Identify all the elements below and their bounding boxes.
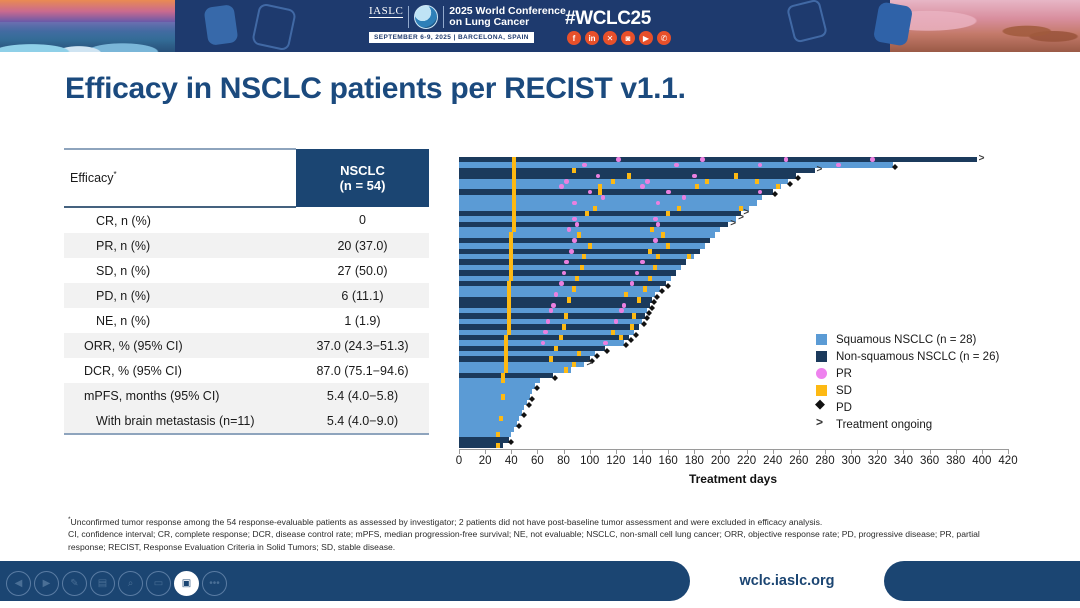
marker-pr bbox=[616, 157, 621, 162]
marker-pr bbox=[674, 163, 679, 168]
footnote-text-1: Unconfirmed tumor response among the 54 … bbox=[71, 517, 823, 527]
x-tick-label: 240 bbox=[763, 455, 782, 467]
x-tick bbox=[773, 449, 774, 454]
table-row: SD, n (%)27 (50.0) bbox=[64, 258, 429, 283]
marker-pr bbox=[700, 157, 705, 162]
x-tick-label: 120 bbox=[606, 455, 625, 467]
zoom-button[interactable]: ⌕ bbox=[118, 571, 143, 596]
presentation-bottom-bar: wclc.iaslc.org ◀▶✎▤⌕▭▣••• bbox=[0, 561, 1080, 608]
x-tick-label: 420 bbox=[998, 455, 1017, 467]
linkedin-icon[interactable]: in bbox=[585, 31, 599, 45]
marker-pd bbox=[552, 372, 558, 378]
globe-icon bbox=[414, 5, 438, 29]
x-tick bbox=[825, 449, 826, 454]
marker-pr bbox=[653, 217, 658, 222]
table-row: PR, n (%)20 (37.0) bbox=[64, 233, 429, 258]
marker-pr bbox=[645, 179, 650, 184]
x-tick bbox=[930, 449, 931, 454]
hexagon-decor-right-icon bbox=[873, 1, 913, 46]
logo-divider-2 bbox=[443, 6, 444, 28]
table-cell-value: 27 (50.0) bbox=[296, 258, 429, 283]
marker-pr bbox=[554, 292, 559, 297]
x-tick-label: 180 bbox=[685, 455, 704, 467]
banner-photo-right bbox=[890, 0, 1080, 52]
table-header-efficacy: Efficacy* bbox=[64, 149, 296, 207]
marker-pd bbox=[772, 188, 778, 194]
slide-title: Efficacy in NSCLC patients per RECIST v1… bbox=[65, 72, 686, 106]
x-tick bbox=[799, 449, 800, 454]
x-tick bbox=[668, 449, 669, 454]
x-tick bbox=[459, 449, 460, 454]
marker-pr bbox=[870, 157, 875, 162]
legend-item-pd: PD bbox=[816, 399, 999, 416]
x-tick-label: 340 bbox=[894, 455, 913, 467]
conference-name: 2025 World Conference on Lung Cancer bbox=[449, 6, 566, 29]
x-tick-label: 400 bbox=[972, 455, 991, 467]
table-cell-value: 6 (11.1) bbox=[296, 283, 429, 308]
x-tick-label: 0 bbox=[456, 455, 462, 467]
marker-pr bbox=[559, 281, 564, 286]
marker-pr bbox=[640, 184, 645, 189]
legend-swatch-pr-icon bbox=[816, 368, 827, 379]
marker-pd bbox=[604, 345, 610, 351]
table-cell-value: 5.4 (4.0−5.8) bbox=[296, 383, 429, 408]
x-tick-label: 140 bbox=[632, 455, 651, 467]
presenter-toolbar: ◀▶✎▤⌕▭▣••• bbox=[6, 571, 227, 596]
table-cell-value: 87.0 (75.1−94.6) bbox=[296, 358, 429, 383]
table-row: PD, n (%)6 (11.1) bbox=[64, 283, 429, 308]
x-tick bbox=[511, 449, 512, 454]
footnote-line-1: *Unconfirmed tumor response among the 54… bbox=[68, 514, 1016, 528]
marker-pd bbox=[508, 436, 514, 442]
slide-grid-button[interactable]: ▤ bbox=[90, 571, 115, 596]
x-axis-label: Treatment days bbox=[452, 472, 1014, 486]
table-cell-value: 0 bbox=[296, 207, 429, 233]
marker-pr bbox=[549, 308, 554, 313]
efficacy-table: Efficacy* NSCLC (n = 54) CR, n (%)0PR, n… bbox=[64, 148, 429, 435]
legend-item-pr: PR bbox=[816, 365, 999, 382]
table-row: ORR, % (95% CI)37.0 (24.3−51.3) bbox=[64, 333, 429, 358]
table-row: DCR, % (95% CI)87.0 (75.1−94.6) bbox=[64, 358, 429, 383]
legend-swatch-ongoing-icon bbox=[816, 419, 827, 430]
youtube-icon[interactable]: ▶ bbox=[639, 31, 653, 45]
x-tick-label: 320 bbox=[868, 455, 887, 467]
marker-pr bbox=[569, 249, 574, 254]
x-twitter-icon[interactable]: ✕ bbox=[603, 31, 617, 45]
bottom-bar-right-pill bbox=[884, 561, 1080, 601]
next-slide-button[interactable]: ▶ bbox=[34, 571, 59, 596]
legend-swatch-pd-icon bbox=[816, 402, 827, 413]
x-tick bbox=[747, 449, 748, 454]
iaslc-wordmark: IASLC bbox=[369, 6, 403, 28]
x-tick bbox=[642, 449, 643, 454]
conference-banner: IASLC 2025 World Conference on Lung Canc… bbox=[0, 0, 1080, 52]
marker-pd bbox=[623, 339, 629, 345]
hexagon-outline-right-icon bbox=[786, 0, 828, 44]
footnote-line-2: CI, confidence interval; CR, complete re… bbox=[68, 528, 1016, 553]
table-cell-value: 20 (37.0) bbox=[296, 233, 429, 258]
table-cell-value: 5.4 (4.0−9.0) bbox=[296, 408, 429, 434]
conference-date: SEPTEMBER 6-9, 2025 | BARCELONA, SPAIN bbox=[369, 32, 534, 43]
x-tick bbox=[537, 449, 538, 454]
facebook-icon[interactable]: f bbox=[567, 31, 581, 45]
legend-item-non-squamous: Non-squamous NSCLC (n = 26) bbox=[816, 348, 999, 365]
present-video-button[interactable]: ▣ bbox=[174, 571, 199, 596]
table-header-row: Efficacy* NSCLC (n = 54) bbox=[64, 149, 429, 207]
x-tick-label: 200 bbox=[711, 455, 730, 467]
x-tick-label: 380 bbox=[946, 455, 965, 467]
marker-pr bbox=[572, 238, 577, 243]
legend-label-squamous: Squamous NSCLC (n = 28) bbox=[836, 334, 976, 346]
marker-pd bbox=[787, 178, 793, 184]
x-tick-label: 300 bbox=[842, 455, 861, 467]
table-cell-label: DCR, % (95% CI) bbox=[64, 358, 296, 383]
legend-item-ongoing: Treatment ongoing bbox=[816, 416, 999, 433]
instagram-icon[interactable]: ◙ bbox=[621, 31, 635, 45]
notes-button[interactable]: ▭ bbox=[146, 571, 171, 596]
table-row: With brain metastasis (n=11)5.4 (4.0−9.0… bbox=[64, 408, 429, 434]
x-tick-label: 100 bbox=[580, 455, 599, 467]
table-header-efficacy-label: Efficacy bbox=[70, 172, 114, 186]
x-tick bbox=[851, 449, 852, 454]
chart-legend: Squamous NSCLC (n = 28) Non-squamous NSC… bbox=[816, 331, 999, 433]
x-tick bbox=[1008, 449, 1009, 454]
logo-divider bbox=[408, 6, 409, 28]
x-tick-label: 260 bbox=[789, 455, 808, 467]
legend-swatch-non-squamous-icon bbox=[816, 351, 827, 362]
table-cell-label: PD, n (%) bbox=[64, 283, 296, 308]
marker-pd bbox=[534, 382, 540, 388]
table-header-nsclc-label: NSCLC bbox=[296, 163, 429, 178]
legend-label-non-squamous: Non-squamous NSCLC (n = 26) bbox=[836, 351, 999, 363]
marker-pr bbox=[619, 308, 624, 313]
conference-website-url: wclc.iaslc.org bbox=[690, 561, 884, 601]
table-cell-label: With brain metastasis (n=11) bbox=[64, 408, 296, 434]
legend-item-squamous: Squamous NSCLC (n = 28) bbox=[816, 331, 999, 348]
x-tick-label: 80 bbox=[557, 455, 570, 467]
marker-pd bbox=[641, 318, 647, 324]
hexagon-outline-left-icon bbox=[251, 3, 297, 52]
x-tick-label: 280 bbox=[815, 455, 834, 467]
marker-pr bbox=[601, 195, 606, 200]
x-tick bbox=[956, 449, 957, 454]
x-tick-label: 360 bbox=[920, 455, 939, 467]
legend-label-sd: SD bbox=[836, 385, 852, 397]
patient-row bbox=[459, 443, 1008, 448]
social-links: f in ✕ ◙ ▶ ✆ bbox=[567, 31, 671, 45]
table-cell-value: 1 (1.9) bbox=[296, 308, 429, 333]
marker-pr bbox=[640, 260, 645, 265]
x-tick bbox=[616, 449, 617, 454]
conference-hashtag: #WCLC25 bbox=[565, 8, 651, 30]
x-tick bbox=[877, 449, 878, 454]
conference-name-line2: on Lung Cancer bbox=[449, 17, 566, 29]
table-row: CR, n (%)0 bbox=[64, 207, 429, 233]
marker-pr bbox=[630, 281, 635, 286]
legend-item-sd: SD bbox=[816, 382, 999, 399]
legend-swatch-squamous-icon bbox=[816, 334, 827, 345]
marker-pd bbox=[628, 334, 634, 340]
table-cell-label: NE, n (%) bbox=[64, 308, 296, 333]
pen-annotate-button[interactable]: ✎ bbox=[62, 571, 87, 596]
marker-pd bbox=[795, 172, 801, 178]
marker-pd bbox=[526, 399, 532, 405]
footnotes: *Unconfirmed tumor response among the 54… bbox=[68, 514, 1016, 554]
banner-photo-left bbox=[0, 0, 175, 52]
table-cell-label: SD, n (%) bbox=[64, 258, 296, 283]
marker-pr bbox=[666, 190, 671, 195]
marker-pr bbox=[575, 222, 580, 227]
x-tick bbox=[982, 449, 983, 454]
x-tick bbox=[590, 449, 591, 454]
table-cell-label: mPFS, months (95% CI) bbox=[64, 383, 296, 408]
marker-pd bbox=[892, 161, 898, 167]
marker-pd bbox=[516, 420, 522, 426]
table-header-asterisk: * bbox=[114, 170, 117, 179]
marker-pd bbox=[521, 409, 527, 415]
table-header-nsclc: NSCLC (n = 54) bbox=[296, 149, 429, 207]
table-row: mPFS, months (95% CI)5.4 (4.0−5.8) bbox=[64, 383, 429, 408]
table-header-nsclc-count: (n = 54) bbox=[296, 178, 429, 193]
table-cell-value: 37.0 (24.3−51.3) bbox=[296, 333, 429, 358]
marker-pr bbox=[622, 303, 627, 308]
marker-pr bbox=[656, 222, 661, 227]
marker-sd bbox=[496, 443, 500, 448]
x-tick-label: 20 bbox=[479, 455, 492, 467]
more-options-button[interactable]: ••• bbox=[202, 571, 227, 596]
x-axis-line bbox=[459, 449, 1008, 450]
marker-pd bbox=[633, 329, 639, 335]
hexagon-decor-left-icon bbox=[204, 4, 239, 46]
x-tick bbox=[720, 449, 721, 454]
marker-pd bbox=[659, 285, 665, 291]
x-tick-label: 60 bbox=[531, 455, 544, 467]
x-tick bbox=[694, 449, 695, 454]
legend-label-ongoing: Treatment ongoing bbox=[836, 419, 932, 431]
marker-pr bbox=[564, 179, 569, 184]
previous-slide-button[interactable]: ◀ bbox=[6, 571, 31, 596]
marker-pr bbox=[551, 303, 556, 308]
legend-swatch-sd-icon bbox=[816, 385, 827, 396]
legend-label-pd: PD bbox=[836, 402, 852, 414]
table-cell-label: ORR, % (95% CI) bbox=[64, 333, 296, 358]
x-tick bbox=[903, 449, 904, 454]
table-row: NE, n (%)1 (1.9) bbox=[64, 308, 429, 333]
marker-pr bbox=[682, 195, 687, 200]
wechat-icon[interactable]: ✆ bbox=[657, 31, 671, 45]
marker-pr bbox=[572, 217, 577, 222]
x-tick-label: 220 bbox=[737, 455, 756, 467]
x-tick bbox=[485, 449, 486, 454]
table-cell-label: PR, n (%) bbox=[64, 233, 296, 258]
x-tick-label: 40 bbox=[505, 455, 518, 467]
iaslc-logo-block: IASLC 2025 World Conference on Lung Canc… bbox=[369, 5, 566, 43]
legend-label-pr: PR bbox=[836, 368, 852, 380]
x-tick bbox=[564, 449, 565, 454]
marker-pr bbox=[836, 163, 841, 168]
marker-pr bbox=[572, 201, 577, 206]
table-cell-label: CR, n (%) bbox=[64, 207, 296, 233]
marker-pd bbox=[665, 280, 671, 286]
marker-pr bbox=[653, 238, 658, 243]
marker-pr bbox=[692, 174, 697, 179]
marker-pr bbox=[559, 184, 564, 189]
x-tick-label: 160 bbox=[659, 455, 678, 467]
marker-pd bbox=[594, 350, 600, 356]
